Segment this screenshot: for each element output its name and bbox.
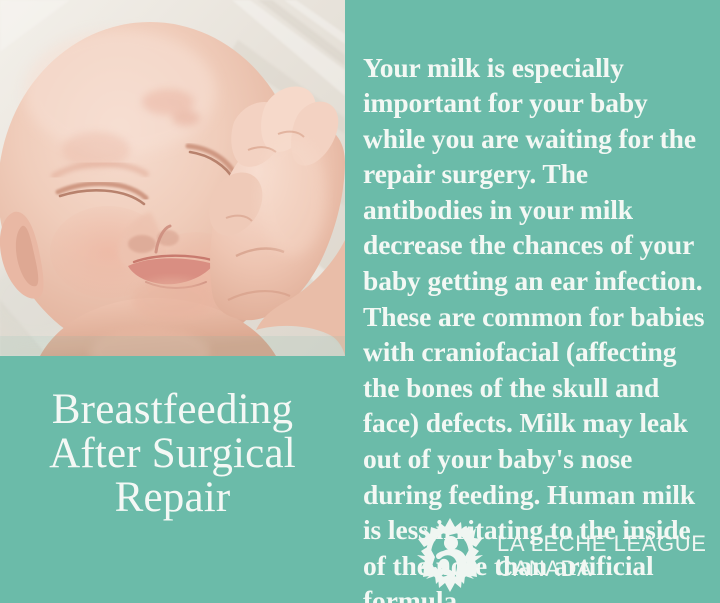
la-leche-league-sun-emblem-icon [415, 517, 485, 593]
headline-line-2: After Surgical [0, 432, 345, 476]
right-column: Your milk is especially important for yo… [345, 0, 720, 603]
logo-wordmark-line-1: LA LECHE LEAGUE [497, 531, 707, 556]
headline-line-1: Breastfeeding [0, 388, 345, 432]
left-column: Breastfeeding After Surgical Repair [0, 0, 345, 603]
infographic-card: Breastfeeding After Surgical Repair Your… [0, 0, 720, 603]
logo-wordmark: LA LECHE LEAGUE CANADA [497, 529, 707, 581]
page-title: Breastfeeding After Surgical Repair [0, 388, 345, 520]
la-leche-league-canada-logo: LA LECHE LEAGUE CANADA [415, 517, 707, 593]
logo-wordmark-line-2: CANADA [497, 556, 707, 581]
baby-photo [0, 0, 345, 356]
headline-line-3: Repair [0, 476, 345, 520]
